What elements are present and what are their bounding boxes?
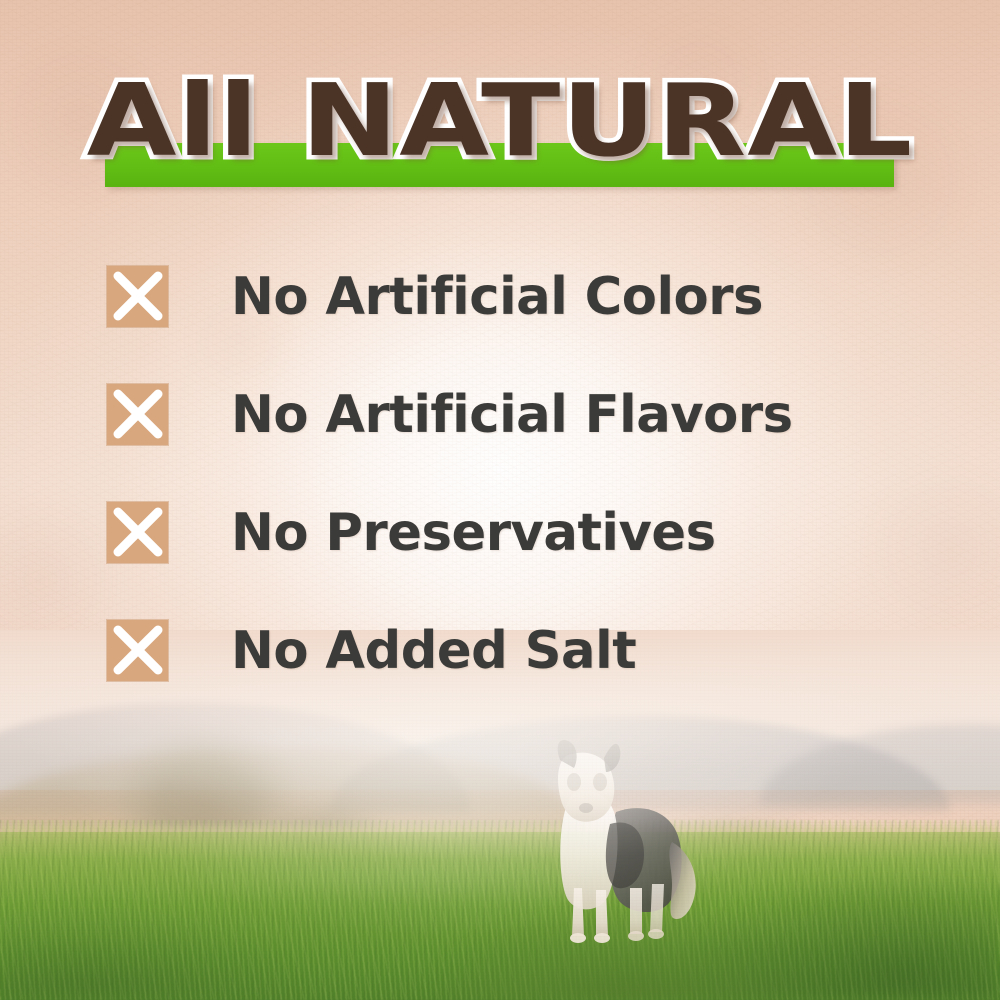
page-title: All NATURAL xyxy=(0,66,1000,176)
grass-shadow-left xyxy=(0,900,300,1000)
x-mark-icon xyxy=(107,384,168,445)
dog-icon xyxy=(520,738,710,948)
list-item-label: No Artificial Colors xyxy=(231,258,763,336)
list-item: No Artificial Flavors xyxy=(107,376,937,494)
list-item-label: No Preservatives xyxy=(231,494,716,572)
x-mark-icon xyxy=(107,620,168,681)
grass-shadow-right xyxy=(680,870,1000,1000)
list-item-label: No Artificial Flavors xyxy=(231,376,793,454)
list-item: No Preservatives xyxy=(107,494,937,612)
list-item: No Added Salt xyxy=(107,612,937,730)
x-mark-icon xyxy=(107,502,168,563)
list-item: No Artificial Colors xyxy=(107,258,937,376)
all-natural-claims-panel: All NATURAL No Artificial Colors No Arti… xyxy=(0,0,1000,1000)
claims-list: No Artificial Colors No Artificial Flavo… xyxy=(107,258,937,730)
list-item-label: No Added Salt xyxy=(231,612,636,690)
x-mark-icon xyxy=(107,266,168,327)
